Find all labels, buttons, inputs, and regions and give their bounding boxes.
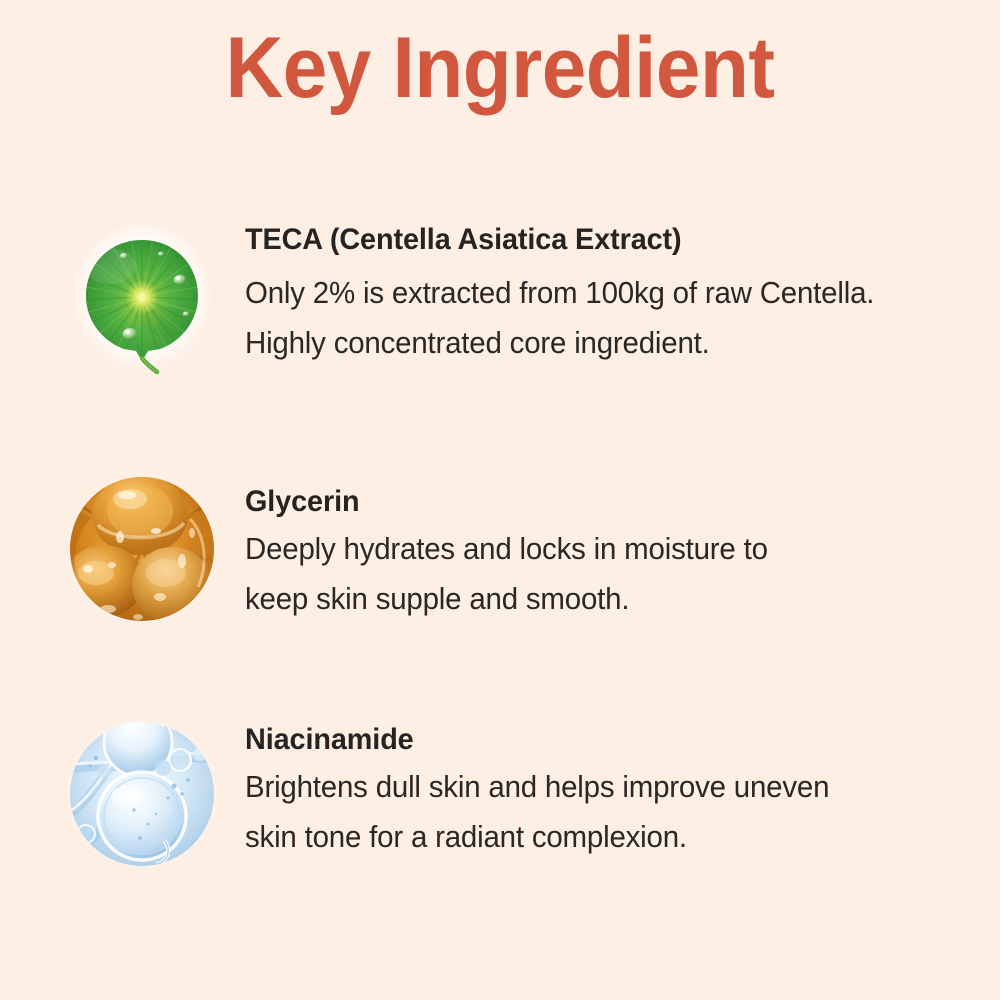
key-ingredient-infographic: Key Ingredient xyxy=(0,0,1000,1000)
centella-leaf-icon xyxy=(68,218,216,378)
ingredient-description-line-2: Highly concentrated core ingredient. xyxy=(245,318,939,368)
ingredient-name: Niacinamide xyxy=(245,720,946,760)
ingredient-description-line-1: Deeply hydrates and locks in moisture to xyxy=(245,524,939,574)
ingredient-copy: Niacinamide Brightens dull skin and help… xyxy=(245,720,975,862)
ingredient-name: TECA (Centella Asiatica Extract) xyxy=(245,220,946,260)
ingredient-description-line-2: keep skin supple and smooth. xyxy=(245,574,939,624)
ingredient-copy: TECA (Centella Asiatica Extract) Only 2%… xyxy=(245,220,975,368)
ingredient-description-line-2: skin tone for a radiant complexion. xyxy=(245,812,939,862)
ingredient-description-line-1: Brightens dull skin and helps improve un… xyxy=(245,762,939,812)
ingredient-item-niacinamide: Niacinamide Brightens dull skin and help… xyxy=(0,703,1000,903)
ingredient-description-line-1: Only 2% is extracted from 100kg of raw C… xyxy=(245,268,939,318)
ingredient-copy: Glycerin Deeply hydrates and locks in mo… xyxy=(245,482,975,624)
blue-water-bubbles-icon xyxy=(68,714,216,874)
ingredient-item-teca: TECA (Centella Asiatica Extract) Only 2%… xyxy=(0,207,1000,407)
ingredient-item-glycerin: Glycerin Deeply hydrates and locks in mo… xyxy=(0,458,1000,658)
ingredient-name: Glycerin xyxy=(245,482,946,522)
amber-gel-icon xyxy=(68,469,216,629)
ingredient-list: TECA (Centella Asiatica Extract) Only 2%… xyxy=(0,0,1000,1000)
